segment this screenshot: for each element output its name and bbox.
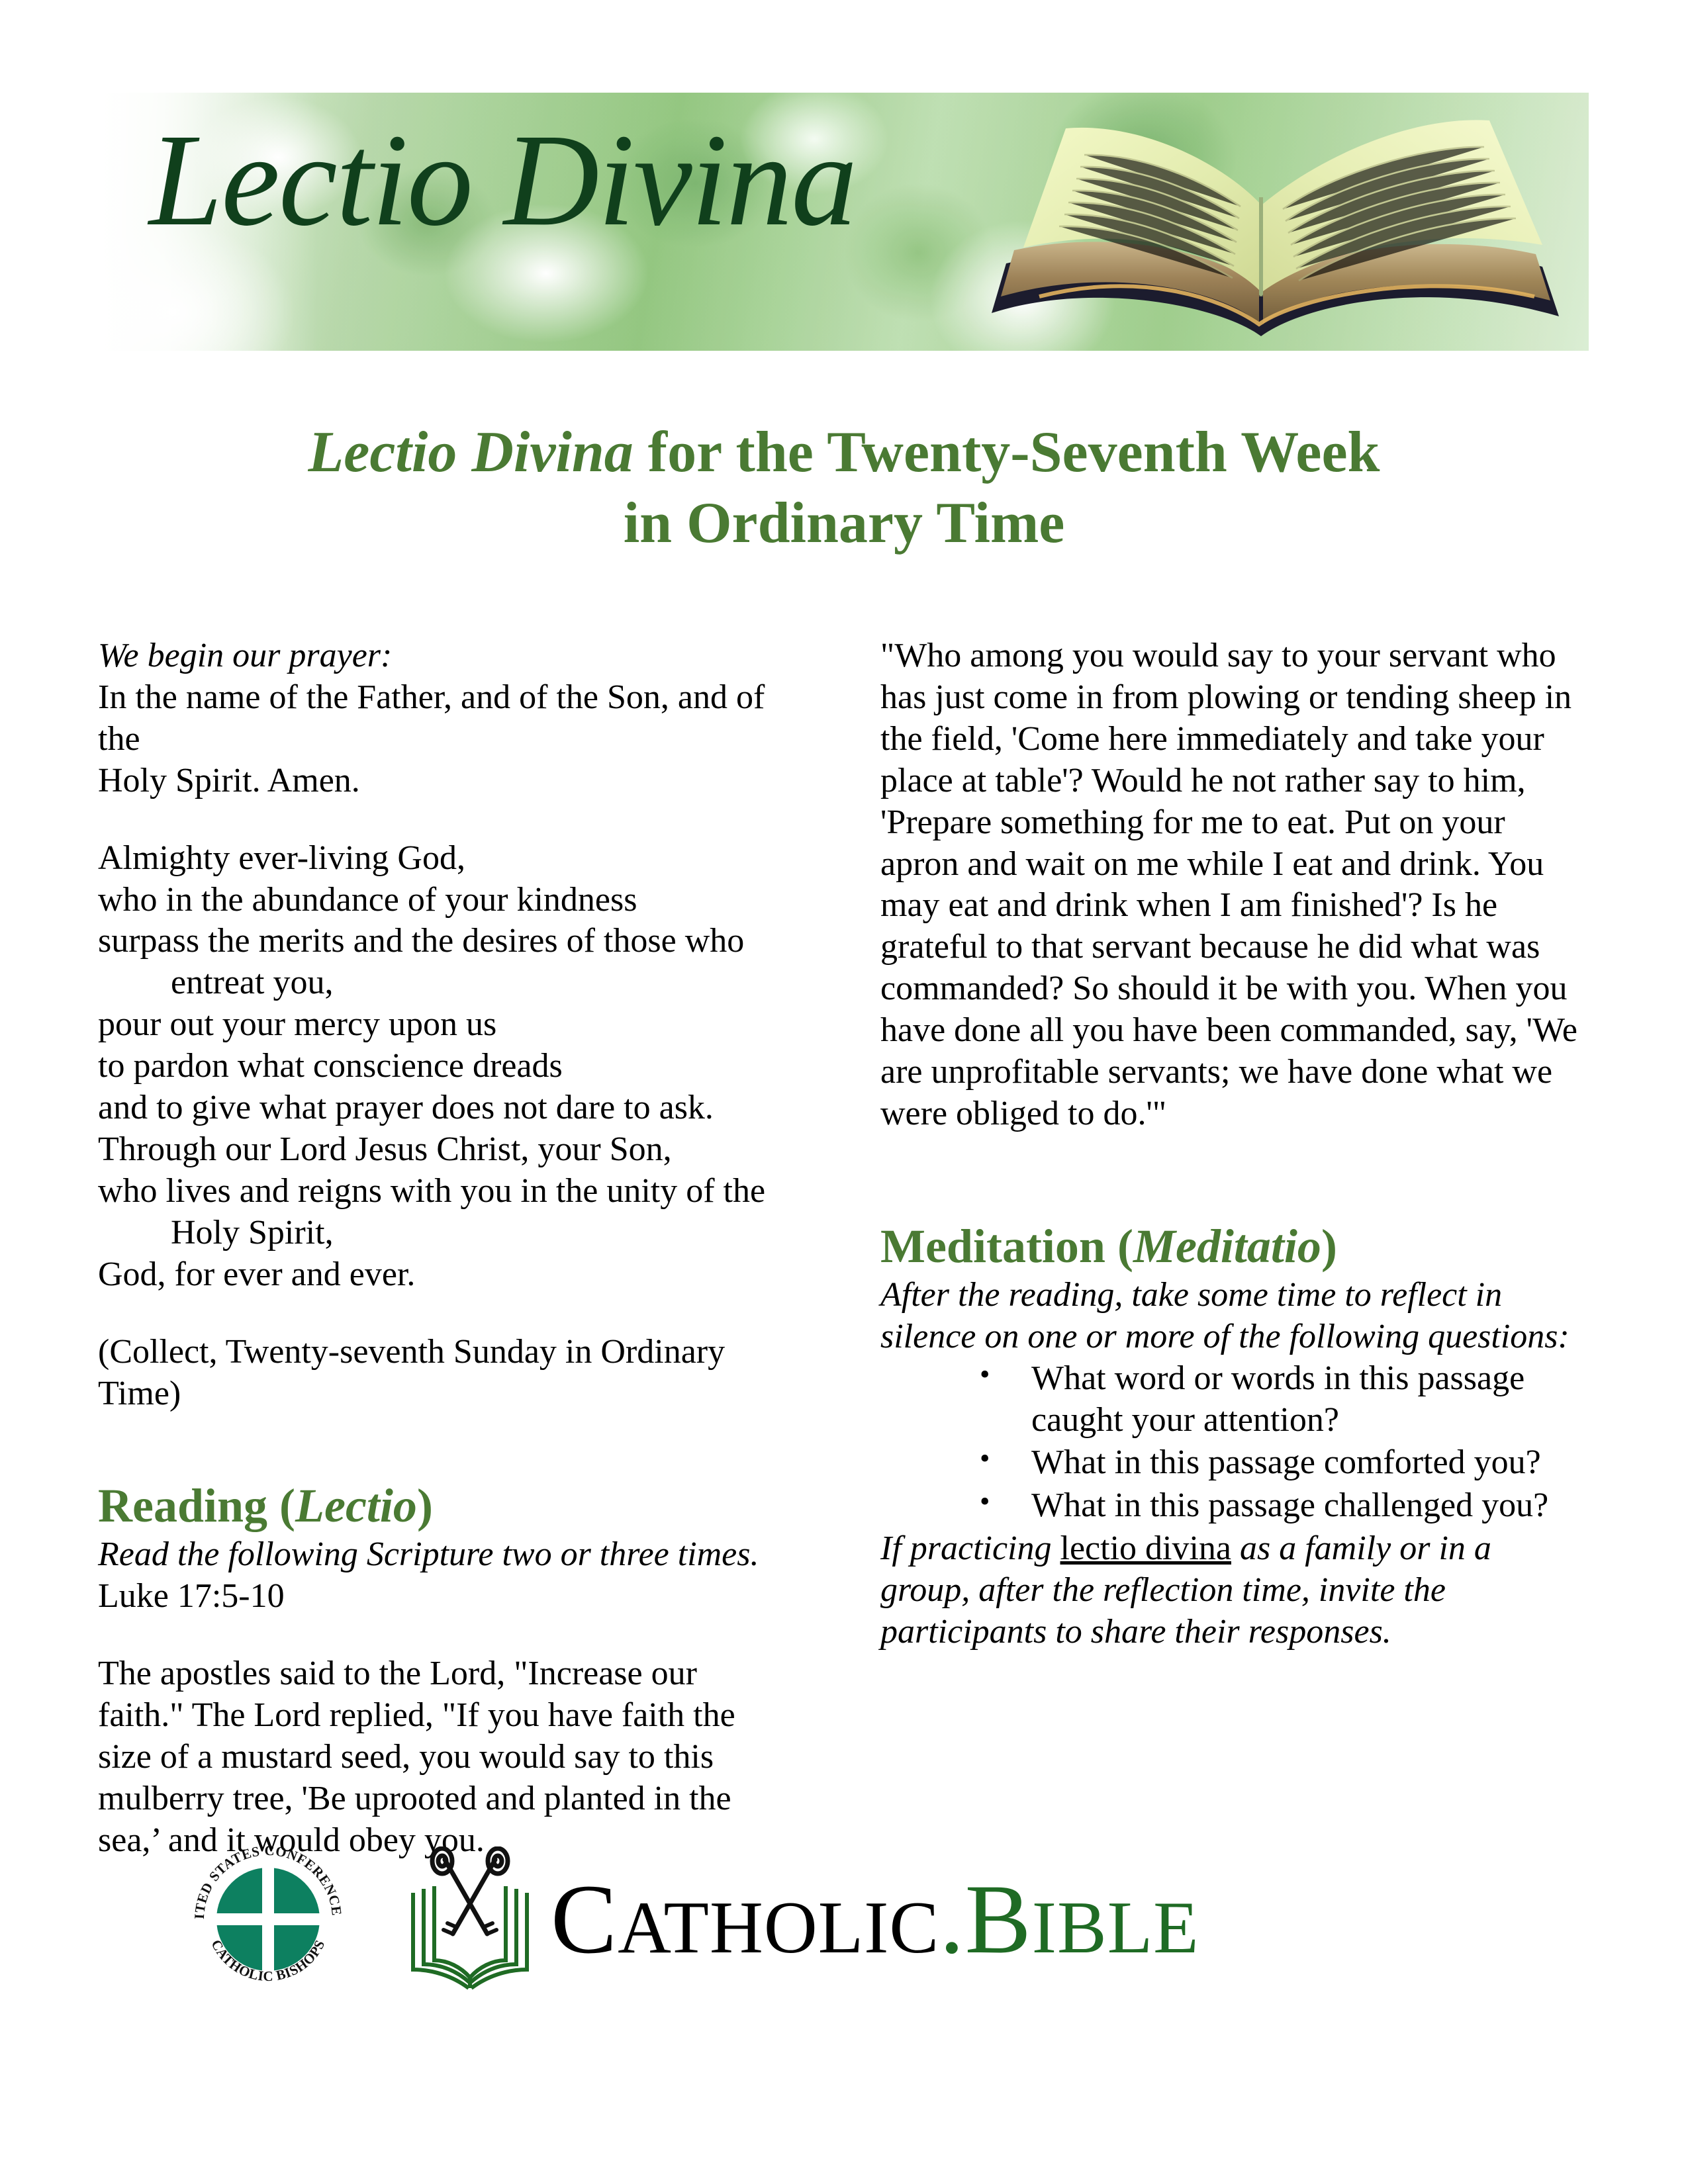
collect-line-indented: entreat you, (98, 962, 780, 1004)
list-item: What in this passage comforted you? (980, 1442, 1582, 1484)
spacer (880, 1199, 1582, 1218)
crossed-keys (445, 1860, 495, 1934)
reading-rubric: Read the following Scripture two or thre… (98, 1534, 780, 1576)
reflection-questions-list: What word or words in this passage caugh… (880, 1358, 1582, 1527)
page-title-latin: Lectio Divina (308, 420, 633, 484)
scripture-citation: Luke 17:5-10 (98, 1576, 780, 1617)
opening-rubric: We begin our prayer: (98, 635, 780, 677)
page-title-line2: in Ordinary Time (624, 491, 1065, 555)
sign-of-cross-line-2: Holy Spirit. Amen. (98, 760, 780, 802)
wordmark-b: B (965, 1864, 1032, 1974)
scripture-text-part-2: "Who among you would say to your servant… (880, 635, 1582, 1135)
spacer (98, 1296, 780, 1332)
page-title-rest: for the Twenty-Seventh Week (633, 420, 1380, 484)
open-book-crossed-keys-icon (404, 1846, 536, 1992)
wordmark-dot: . (939, 1864, 965, 1974)
collect-line: who lives and reigns with you in the uni… (98, 1171, 780, 1212)
meditation-rubric: After the reading, take some time to ref… (880, 1275, 1582, 1358)
lectio-divina-underlined: lectio divina (1060, 1529, 1231, 1567)
reading-section-heading: Reading (Lectio) (98, 1478, 780, 1534)
collect-line: God, for ever and ever. (98, 1254, 780, 1296)
closing-rubric-before: If practicing (880, 1529, 1060, 1567)
meditation-heading-close: ) (1321, 1220, 1337, 1273)
list-item: What in this passage challenged you? (980, 1485, 1582, 1527)
meditation-heading-plain: Meditation ( (880, 1220, 1133, 1273)
usccb-logo: UNITED STATES CONFERENCE OF CATHOLIC BIS… (185, 1837, 351, 2002)
reading-heading-latin: Lectio (295, 1479, 417, 1532)
open-bible-icon (960, 98, 1589, 351)
wordmark-atholic: ATHOLIC (618, 1887, 939, 1969)
collect-attribution: (Collect, Twenty-seventh Sunday in Ordin… (98, 1332, 780, 1415)
key-teeth (444, 1923, 496, 1934)
left-column: We begin our prayer: In the name of the … (98, 635, 780, 1862)
footer-logos: UNITED STATES CONFERENCE OF CATHOLIC BIS… (185, 1827, 1509, 2012)
lectio-divina-handout-page: Lectio Divina Lectio Divina for the Twen… (0, 0, 1688, 2184)
wordmark-c: C (551, 1864, 618, 1974)
collect-line: who in the abundance of your kindness (98, 880, 780, 921)
spacer (98, 1414, 780, 1478)
spacer (98, 802, 780, 838)
catholic-bible-logo: CATHOLIC.BIBLE (404, 1846, 1199, 1992)
collect-line-indented: Holy Spirit, (98, 1212, 780, 1254)
collect-line: and to give what prayer does not dare to… (98, 1087, 780, 1129)
catholic-bible-wordmark: CATHOLIC.BIBLE (551, 1870, 1199, 1969)
cross-horizontal (214, 1913, 322, 1925)
reading-heading-plain: Reading ( (98, 1479, 295, 1532)
collect-line: surpass the merits and the desires of th… (98, 921, 780, 962)
collect-line: to pardon what conscience dreads (98, 1046, 780, 1087)
collect-line-text: Holy Spirit, (171, 1214, 334, 1251)
list-item: What word or words in this passage caugh… (980, 1358, 1582, 1441)
spacer (880, 1135, 1582, 1199)
meditation-section-heading: Meditation (Meditatio) (880, 1218, 1582, 1275)
collect-line: Almighty ever-living God, (98, 838, 780, 880)
wordmark-ible: IBLE (1032, 1887, 1199, 1969)
page-banner: Lectio Divina (99, 93, 1589, 351)
spacer (98, 1617, 780, 1653)
collect-line: Through our Lord Jesus Christ, your Son, (98, 1129, 780, 1171)
page-title: Lectio Divina for the Twenty-Seventh Wee… (132, 417, 1556, 559)
sign-of-cross-line-1: In the name of the Father, and of the So… (98, 677, 780, 760)
right-column: "Who among you would say to your servant… (880, 635, 1582, 1653)
banner-title: Lectio Divina (149, 111, 856, 250)
reading-heading-close: ) (417, 1479, 433, 1532)
collect-line: pour out your mercy upon us (98, 1004, 780, 1046)
closing-rubric: If practicing lectio divina as a family … (880, 1528, 1582, 1653)
meditation-heading-latin: Meditatio (1133, 1220, 1321, 1273)
collect-line-text: entreat you, (171, 964, 333, 1001)
